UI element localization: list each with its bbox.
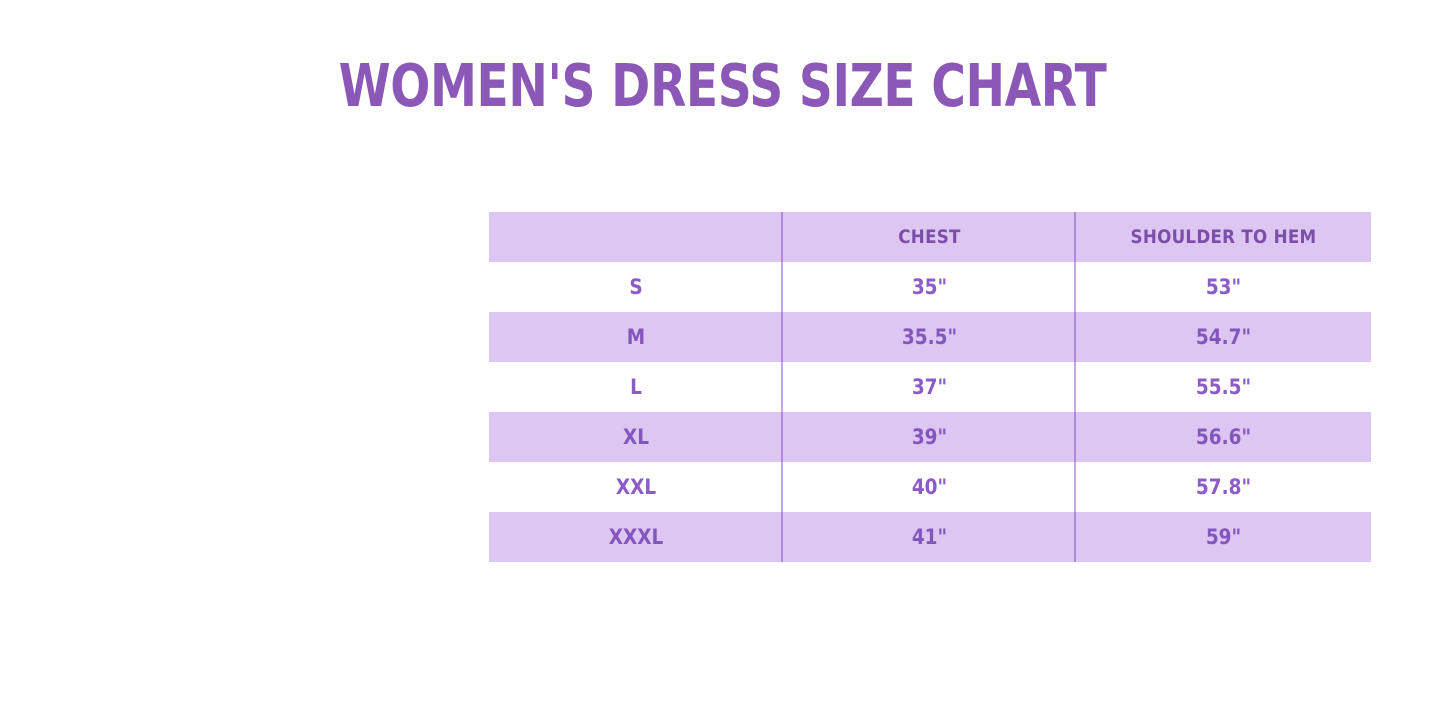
size-chart-table: CHEST SHOULDER TO HEM S 35" 53" — [489, 212, 1371, 562]
cell-size: S — [489, 262, 783, 312]
cell-size: M — [489, 312, 783, 362]
cell-chest: 40" — [783, 462, 1076, 512]
column-header-chest: CHEST — [783, 212, 1076, 262]
cell-shoulder-to-hem: 56.6" — [1076, 412, 1371, 462]
cell-chest-value: 37" — [801, 362, 1059, 412]
cell-chest: 35" — [783, 262, 1076, 312]
cell-shoulder-to-hem-value: 59" — [1094, 512, 1354, 562]
cell-chest-value: 41" — [801, 512, 1059, 562]
column-header-size — [489, 212, 783, 262]
cell-size-value: XXL — [507, 462, 766, 512]
cell-shoulder-to-hem-value: 55.5" — [1094, 362, 1354, 412]
cell-chest: 41" — [783, 512, 1076, 562]
table-row: M 35.5" 54.7" — [489, 312, 1371, 362]
table-row: XL 39" 56.6" — [489, 412, 1371, 462]
table-row: L 37" 55.5" — [489, 362, 1371, 412]
cell-shoulder-to-hem: 53" — [1076, 262, 1371, 312]
cell-chest: 39" — [783, 412, 1076, 462]
column-header-shoulder-to-hem: SHOULDER TO HEM — [1076, 212, 1371, 262]
cell-size-value: L — [507, 362, 766, 412]
table-row: S 35" 53" — [489, 262, 1371, 312]
cell-chest-value: 35.5" — [801, 312, 1059, 362]
cell-shoulder-to-hem-value: 53" — [1094, 262, 1354, 312]
cell-size: XL — [489, 412, 783, 462]
page-title: WOMEN'S DRESS SIZE CHART — [145, 55, 1301, 117]
table-row: XXXL 41" 59" — [489, 512, 1371, 562]
cell-chest-value: 40" — [801, 462, 1059, 512]
cell-chest-value: 35" — [801, 262, 1059, 312]
cell-size-value: XXXL — [507, 512, 766, 562]
cell-size: L — [489, 362, 783, 412]
cell-shoulder-to-hem: 59" — [1076, 512, 1371, 562]
table-row: XXL 40" 57.8" — [489, 462, 1371, 512]
cell-size-value: S — [507, 262, 766, 312]
cell-chest: 35.5" — [783, 312, 1076, 362]
column-header-chest-label: CHEST — [801, 212, 1059, 262]
cell-size: XXL — [489, 462, 783, 512]
size-chart-page: WOMEN'S DRESS SIZE CHART CHEST SHOULDER … — [0, 0, 1445, 723]
cell-size: XXXL — [489, 512, 783, 562]
cell-chest: 37" — [783, 362, 1076, 412]
table-header-row: CHEST SHOULDER TO HEM — [489, 212, 1371, 262]
cell-shoulder-to-hem-value: 54.7" — [1094, 312, 1354, 362]
cell-chest-value: 39" — [801, 412, 1059, 462]
cell-shoulder-to-hem-value: 57.8" — [1094, 462, 1354, 512]
cell-size-value: XL — [507, 412, 766, 462]
cell-shoulder-to-hem: 55.5" — [1076, 362, 1371, 412]
cell-shoulder-to-hem: 57.8" — [1076, 462, 1371, 512]
cell-shoulder-to-hem-value: 56.6" — [1094, 412, 1354, 462]
cell-size-value: M — [507, 312, 766, 362]
cell-shoulder-to-hem: 54.7" — [1076, 312, 1371, 362]
column-header-shoulder-to-hem-label: SHOULDER TO HEM — [1094, 212, 1354, 262]
